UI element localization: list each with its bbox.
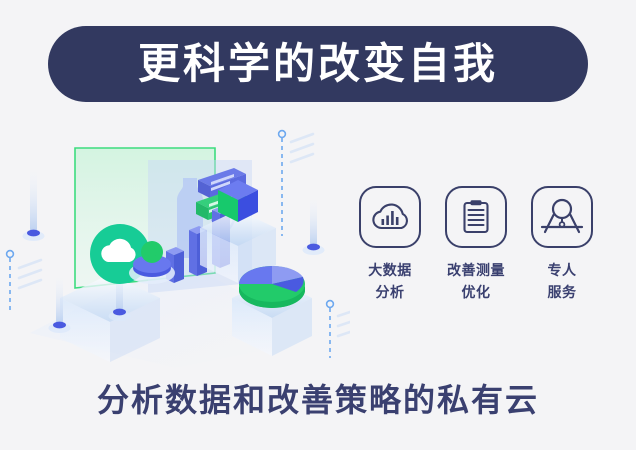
- feature-item-measurement[interactable]: 改善测量 优化: [438, 186, 514, 303]
- feature-label-line1: 改善测量: [447, 262, 505, 278]
- feature-label-measurement: 改善测量 优化: [447, 260, 505, 303]
- cloud-bar-chart-icon: [359, 186, 421, 248]
- feature-label-line2: 分析: [376, 284, 405, 300]
- feature-label-line2: 服务: [548, 284, 577, 300]
- hero-illustration: [0, 118, 350, 368]
- title-banner: 更科学的改变自我: [48, 26, 588, 102]
- poster-canvas: 更科学的改变自我: [0, 0, 636, 450]
- feature-item-service[interactable]: 专人 服务: [524, 186, 600, 303]
- clipboard-icon: [445, 186, 507, 248]
- feature-item-big-data[interactable]: 大数据 分析: [352, 186, 428, 303]
- feature-label-line1: 大数据: [368, 262, 412, 278]
- feature-label-big-data: 大数据 分析: [368, 260, 412, 303]
- feature-list: 大数据 分析 改善测量 优化: [352, 186, 600, 326]
- feature-label-service: 专人 服务: [548, 260, 577, 303]
- pie-chart-3d: [239, 266, 305, 308]
- feature-label-line1: 专人: [548, 262, 577, 278]
- service-person-icon: [531, 186, 593, 248]
- page-title: 更科学的改变自我: [138, 43, 498, 85]
- tagline: 分析数据和改善策略的私有云: [0, 383, 636, 418]
- feature-label-line2: 优化: [462, 284, 491, 300]
